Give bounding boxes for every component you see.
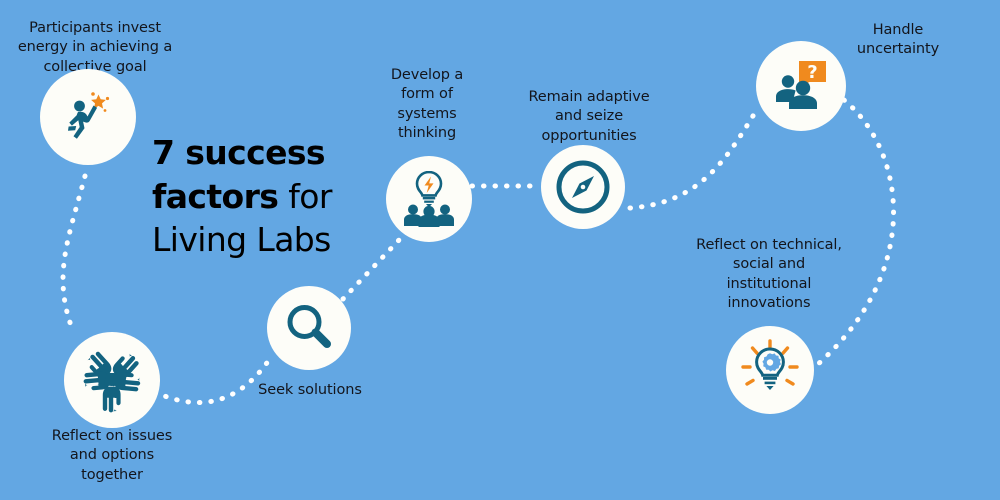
caption-systems-thinking: Develop a form of systems thinking: [372, 66, 482, 143]
node-participants-invest-energy[interactable]: [40, 69, 136, 165]
node-reflect-on-issues[interactable]: [64, 332, 160, 428]
hands-together-icon: [79, 347, 145, 413]
svg-text:?: ?: [807, 62, 817, 83]
caption-reflect-on-innovations: Reflect on technical, social and institu…: [684, 236, 854, 313]
lightbulb-gear-icon: [739, 339, 801, 401]
caption-seek-solutions: Seek solutions: [244, 381, 376, 400]
magnifying-glass-icon: [282, 301, 336, 355]
title-for-word: for: [278, 177, 331, 216]
caption-reflect-on-issues: Reflect on issues and options together: [22, 427, 202, 485]
caption-remain-adaptive: Remain adaptive and seize opportunities: [506, 88, 672, 146]
path-6-to-7: [817, 100, 894, 365]
person-reaching-star-icon: [57, 86, 119, 148]
node-systems-thinking[interactable]: [386, 156, 472, 242]
title-factors-word: factors: [152, 177, 278, 216]
people-question-bubble-icon: ?: [772, 57, 830, 115]
node-seek-solutions[interactable]: [267, 286, 351, 370]
node-reflect-on-innovations[interactable]: [726, 326, 814, 414]
path-1-to-2: [63, 176, 85, 331]
compass-icon: [554, 158, 612, 216]
node-handle-uncertainty[interactable]: ?: [756, 41, 846, 131]
caption-participants-invest-energy: Participants invest energy in achieving …: [0, 19, 190, 77]
node-remain-adaptive[interactable]: [541, 145, 625, 229]
lightbulb-over-group-icon: [399, 169, 459, 229]
caption-handle-uncertainty: Handle uncertainty: [828, 21, 968, 60]
infographic-canvas: 7 success factors for Living Labs Partic…: [0, 0, 1000, 500]
